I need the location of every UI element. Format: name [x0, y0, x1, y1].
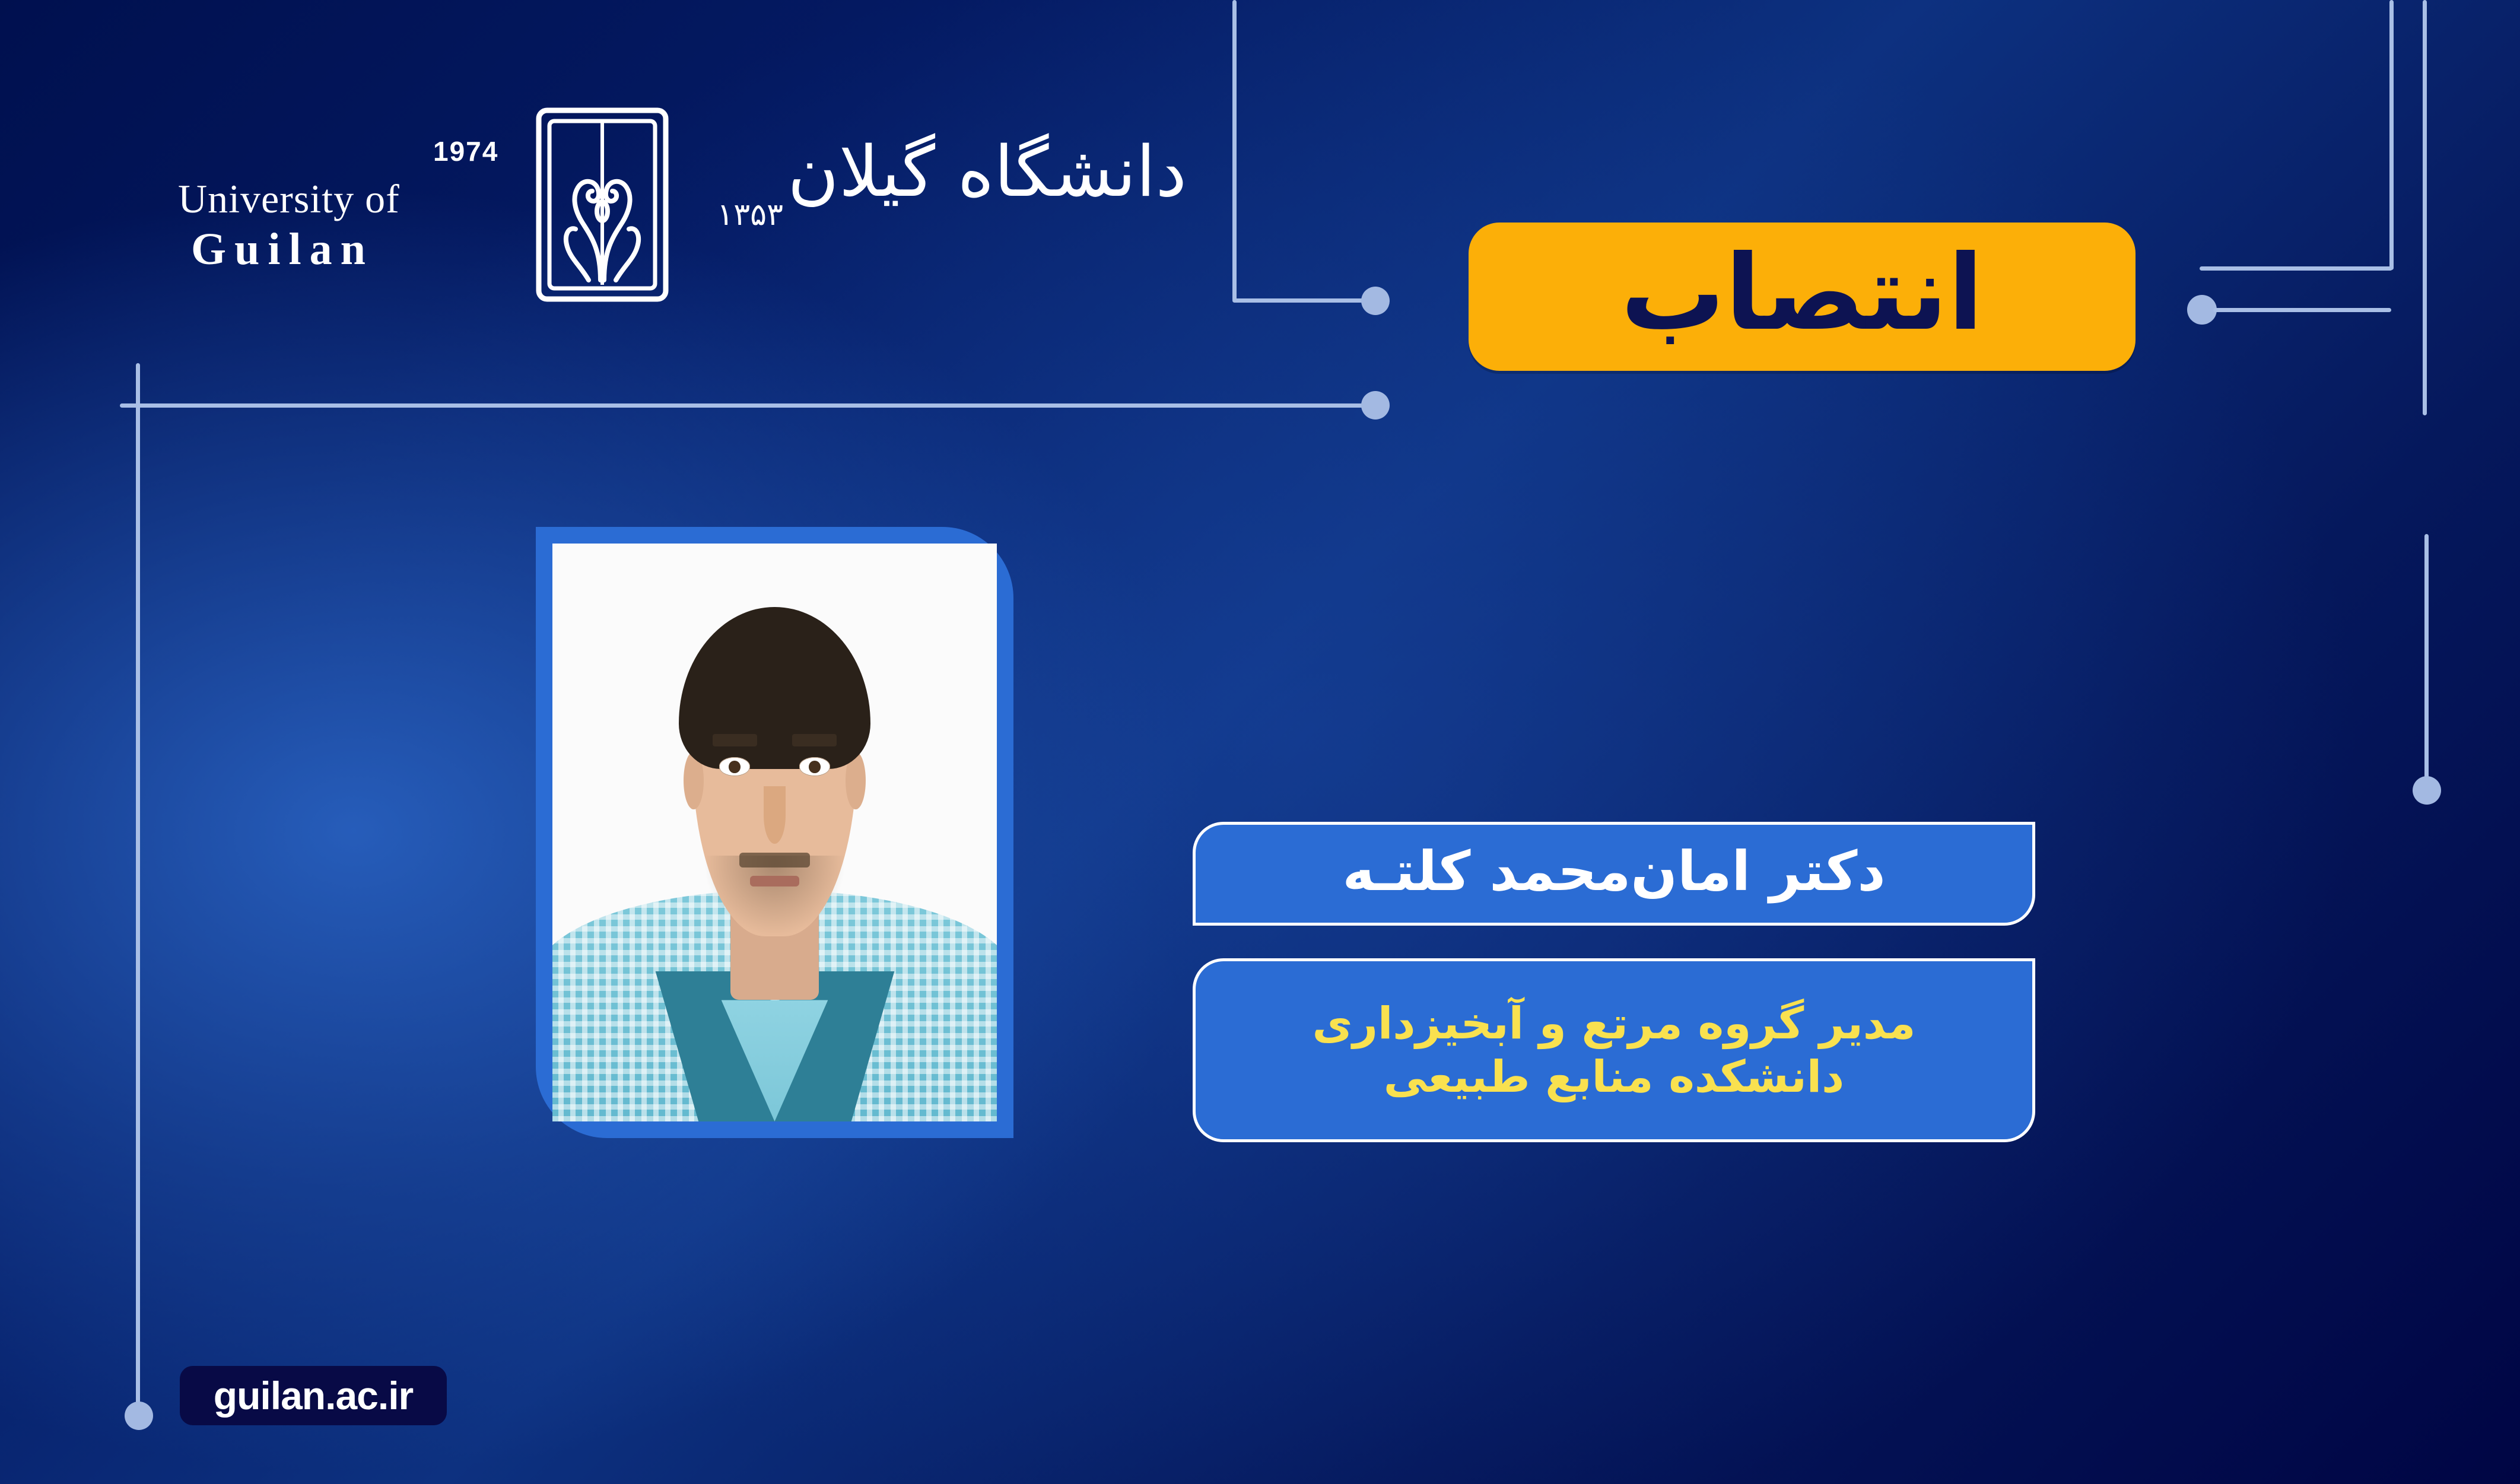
decor-line-vertical-right-corner: [2389, 0, 2394, 270]
person-title-line-2: دانشکده منابع طبیعی: [1384, 1050, 1844, 1104]
decor-line-horizontal-right-corner: [2200, 266, 2392, 271]
person-name: دکتر امان‌محمد کلتـه: [1342, 844, 1885, 899]
appointment-poster: 1974 University of Guilan ۱۳۵۳ دا: [0, 0, 2520, 1484]
portrait-photo: [552, 544, 997, 1121]
decor-line-horizontal-under-logo: [120, 403, 1375, 408]
appointment-badge-label: انتصاب: [1620, 241, 1983, 345]
appointment-badge: انتصاب: [1469, 223, 2136, 371]
portrait-frame: [536, 527, 1013, 1138]
decor-dot-right-corner: [2187, 295, 2217, 325]
logo-year-latin: 1974: [433, 135, 498, 167]
decor-dot-right-mid: [2413, 776, 2441, 805]
person-title-banner: مدیر گروه مرتع و آبخیزداری دانشکده منابع…: [1193, 958, 2035, 1142]
person-title-line-1: مدیر گروه مرتع و آبخیزداری: [1313, 997, 1916, 1050]
person-name-banner: دکتر امان‌محمد کلتـه: [1193, 822, 2035, 926]
logo-persian-name: دانشگاه گیلان: [665, 125, 1187, 303]
decor-dot-center-top: [1361, 287, 1390, 315]
decor-line-vertical-right-mid: [2424, 534, 2429, 783]
logo-university-word: University of: [178, 178, 510, 220]
decor-dot-under-logo: [1361, 391, 1390, 420]
logo-guilan-word: Guilan: [191, 224, 510, 275]
decor-line-vertical-center-top: [1232, 0, 1237, 301]
decor-line-vertical-left: [136, 363, 140, 1407]
decor-dot-bottom-left: [125, 1402, 153, 1430]
decor-line-horizontal-right-dot: [2213, 308, 2391, 312]
decor-line-horizontal-center-top: [1232, 298, 1372, 303]
decor-line-vertical-far-right: [2423, 0, 2427, 415]
university-emblem-icon: [534, 107, 670, 303]
website-url: guilan.ac.ir: [214, 1373, 413, 1418]
university-logo: 1974 University of Guilan ۱۳۵۳ دا: [178, 142, 1199, 338]
website-pill[interactable]: guilan.ac.ir: [180, 1366, 447, 1425]
logo-latin-name: University of Guilan: [178, 178, 510, 275]
